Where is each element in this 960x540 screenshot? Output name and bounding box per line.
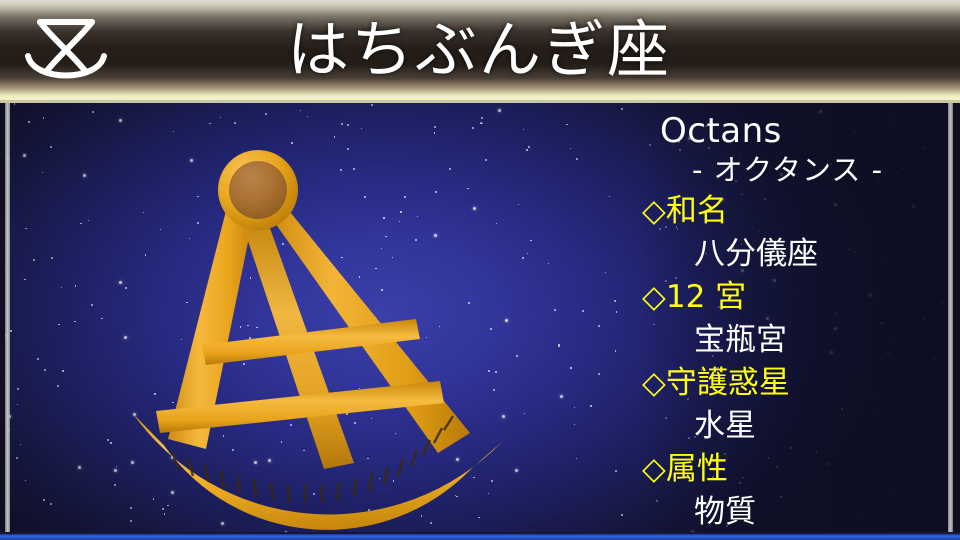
star-field-stage: Octans - オクタンス - ◇和名 八分儀座 ◇12 宮 宝瓶宮 ◇守護惑… (0, 103, 960, 540)
constellation-info-screen: はちぶんぎ座 (0, 0, 960, 540)
header-bar: はちぶんぎ座 (0, 0, 960, 103)
info-row-ruling-planet: ◇守護惑星 水星 (636, 361, 948, 447)
info-label-japanese-name: ◇和名 (636, 189, 948, 233)
info-label-attribute: ◇属性 (636, 447, 948, 491)
constellation-info-panel: Octans - オクタンス - ◇和名 八分儀座 ◇12 宮 宝瓶宮 ◇守護惑… (636, 111, 948, 536)
info-row-attribute: ◇属性 物質 (636, 447, 948, 533)
info-label-zodiac-house: ◇12 宮 (636, 275, 948, 319)
right-outer-border (953, 103, 960, 540)
info-value-japanese-name: 八分儀座 (636, 233, 948, 275)
info-row-japanese-name: ◇和名 八分儀座 (636, 189, 948, 275)
katakana-name: - オクタンス - (636, 151, 948, 189)
bottom-status-bar (0, 532, 960, 540)
right-frame-highlight (948, 103, 953, 533)
info-row-zodiac-house: ◇12 宮 宝瓶宮 (636, 275, 948, 361)
info-value-ruling-planet: 水星 (636, 405, 948, 447)
header-inner: はちぶんぎ座 (6, 4, 952, 95)
info-value-attribute: 物質 (636, 491, 948, 533)
info-value-zodiac-house: 宝瓶宮 (636, 319, 948, 361)
left-frame-highlight (5, 103, 10, 533)
info-label-ruling-planet: ◇守護惑星 (636, 361, 948, 405)
latin-name: Octans (636, 111, 948, 151)
octant-instrument-illustration (110, 133, 580, 533)
page-title: はちぶんぎ座 (6, 10, 952, 90)
